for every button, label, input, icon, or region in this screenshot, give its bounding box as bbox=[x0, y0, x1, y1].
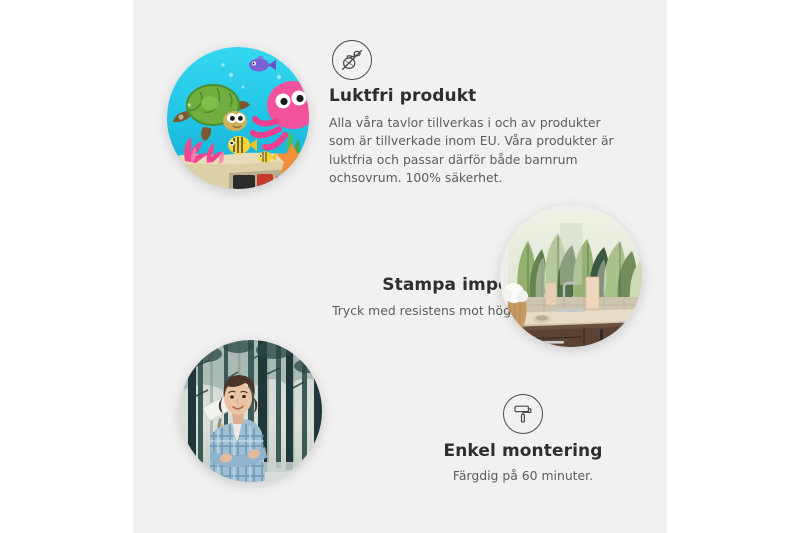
feature-title: Luktfri produkt bbox=[329, 86, 629, 107]
feature-title: Enkel montering bbox=[325, 441, 667, 462]
promo-graphic: Luktfri produkt Alla våra tavlor tillver… bbox=[0, 0, 800, 533]
feature-body: Färgdig på 60 minuter. bbox=[325, 467, 667, 485]
no-fragrance-icon bbox=[332, 40, 372, 80]
feature-block-odour: Luktfri produkt Alla våra tavlor tillver… bbox=[329, 40, 629, 187]
product-photo-bathroom bbox=[500, 205, 642, 347]
feature-body: Alla våra tavlor tillverkas i och av pro… bbox=[329, 114, 621, 187]
product-photo-forest bbox=[180, 340, 322, 482]
feature-block-mounting: Enkel montering Färgdig på 60 minuter. bbox=[325, 394, 667, 485]
product-photo-underwater bbox=[167, 47, 309, 189]
paint-roller-icon bbox=[503, 394, 543, 434]
